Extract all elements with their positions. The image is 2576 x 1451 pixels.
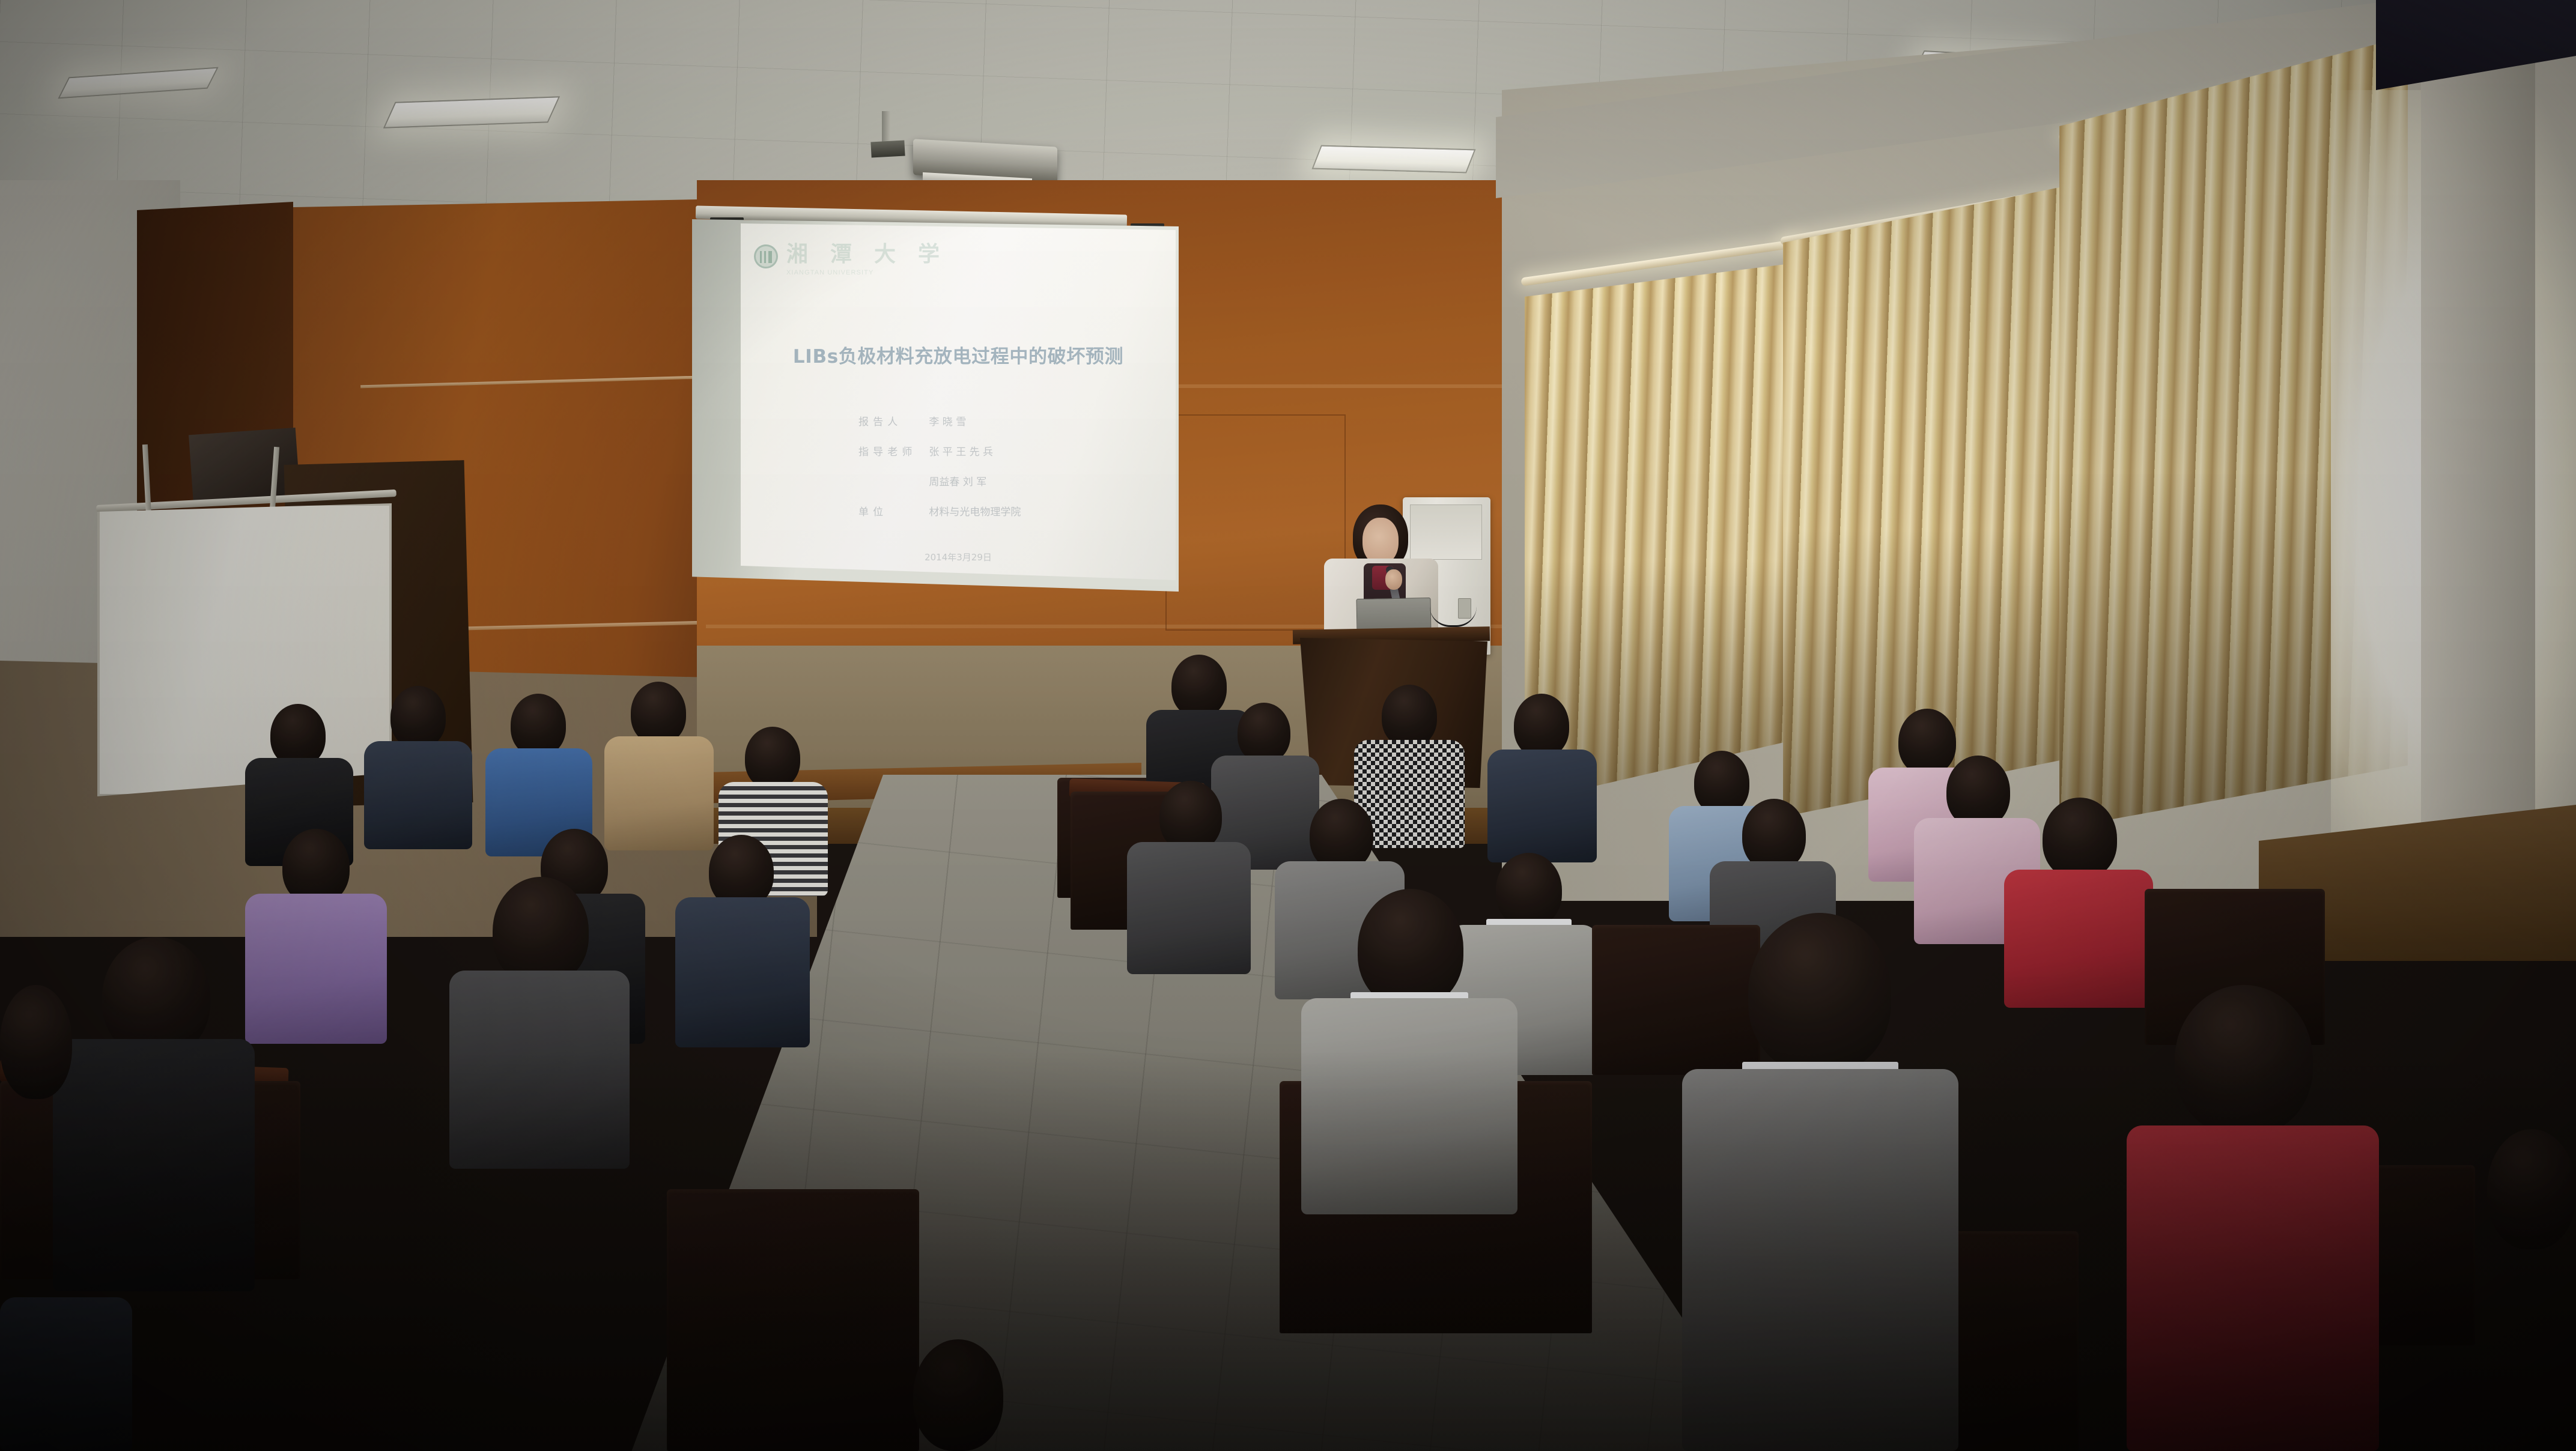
- attendee-tan-top: [604, 736, 714, 850]
- slide-title-wrap: LIBs负极材料充放电过程中的破坏预测: [741, 341, 1176, 368]
- slide-title: LIBs负极材料充放电过程中的破坏预测: [741, 341, 1176, 368]
- projection-screen-surface[interactable]: 湘 潭 大 学 XIANGTAN UNIVERSITY LIBs负极材料充放电过…: [741, 223, 1176, 584]
- presenter-hand: [1385, 569, 1402, 590]
- slide-date-wrap: 2014年3月29日: [741, 551, 1176, 563]
- slide-credit-label: 报告人: [858, 413, 926, 428]
- attendee-front-red: [2127, 1125, 2379, 1451]
- slide-credit-row: 报告人 李 晓 雪: [858, 413, 1021, 428]
- attendee-front-left-grey: [449, 971, 630, 1169]
- attendee-mid-darkgrey: [1127, 842, 1251, 974]
- back-wall-door-outline: [1165, 414, 1346, 631]
- attendee-edge-left: [0, 1297, 132, 1451]
- slide-credit-value: 周益春 刘 军: [929, 476, 986, 488]
- attendee-front-suit-grey: [1682, 1069, 1958, 1451]
- slide-credit-row: 指导老师 张 平 王 先 兵: [858, 443, 1021, 458]
- attendee-head: [1171, 655, 1227, 717]
- slide-credit-row: 单位 材料与光电物理学院: [858, 503, 1021, 518]
- attendee-head: [1496, 853, 1562, 927]
- right-wall-pillar: [2421, 36, 2535, 913]
- attendee-head: [913, 1339, 1003, 1451]
- attendee-head: [631, 682, 686, 744]
- seat-row3-centre[interactable]: [1592, 925, 1760, 1075]
- attendee-head: [1310, 799, 1373, 871]
- attendee-red-tshirt: [2004, 870, 2153, 1008]
- attendee-head: [1748, 913, 1891, 1074]
- slide-header: 湘 潭 大 学 XIANGTAN UNIVERSITY: [754, 237, 947, 276]
- attendee-front-left: [53, 1039, 255, 1291]
- slide-credits: 报告人 李 晓 雪 指导老师 张 平 王 先 兵 周益春 刘 军 单位 材料与光…: [858, 413, 1021, 518]
- slide-credit-value: 李 晓 雪: [929, 416, 966, 428]
- attendee-head: [1898, 709, 1956, 775]
- attendee-navy-far: [1487, 750, 1597, 862]
- presenter-face: [1362, 518, 1399, 565]
- slide-university-name: 湘 潭 大 学: [786, 237, 947, 268]
- attendee-head: [1238, 703, 1290, 763]
- attendee-front-light-grey: [1301, 998, 1517, 1214]
- attendee-head: [1358, 889, 1463, 1008]
- ceiling-light-2: [1311, 145, 1475, 174]
- slide-credit-row: 周益春 刘 军: [858, 473, 1021, 488]
- attendee-head: [1159, 781, 1222, 852]
- attendee-head: [1694, 751, 1749, 814]
- attendee-head: [1382, 685, 1437, 747]
- air-conditioner-vent: [1410, 504, 1482, 560]
- attendee-head: [745, 727, 800, 789]
- slide-credit-label: 指导老师: [858, 443, 926, 458]
- attendee-head: [493, 877, 589, 985]
- attendee-head: [0, 985, 72, 1099]
- slide-university-name-en: XIANGTAN UNIVERSITY: [786, 269, 947, 276]
- slide-credit-value: 材料与光电物理学院: [929, 506, 1021, 518]
- attendee-head: [2487, 1129, 2576, 1249]
- slide-credit-value: 张 平 王 先 兵: [929, 446, 993, 458]
- attendee-head: [390, 686, 446, 748]
- attendee-head: [511, 694, 566, 756]
- attendee-head: [1514, 694, 1569, 757]
- slide-date: 2014年3月29日: [741, 551, 1176, 563]
- presentation-slide: 湘 潭 大 学 XIANGTAN UNIVERSITY LIBs负极材料充放电过…: [741, 223, 1176, 584]
- lecture-hall-photo: 湘 潭 大 学 XIANGTAN UNIVERSITY LIBs负极材料充放电过…: [0, 0, 2576, 1451]
- slide-credit-label: 单位: [858, 503, 926, 518]
- attendee-head: [1946, 756, 2010, 828]
- attendee-head: [2175, 985, 2313, 1135]
- university-seal-icon: [754, 244, 778, 268]
- attendee-navy-mid: [675, 897, 810, 1047]
- attendee-head: [270, 704, 326, 766]
- attendee-head: [1742, 799, 1806, 871]
- seat-row4-centre[interactable]: [667, 1189, 919, 1451]
- attendee-left-navy: [364, 741, 472, 849]
- projector-mount-bracket: [870, 141, 905, 158]
- whiteboard[interactable]: [97, 503, 392, 796]
- attendee-head: [2043, 798, 2117, 879]
- attendee-purple-top: [245, 894, 387, 1044]
